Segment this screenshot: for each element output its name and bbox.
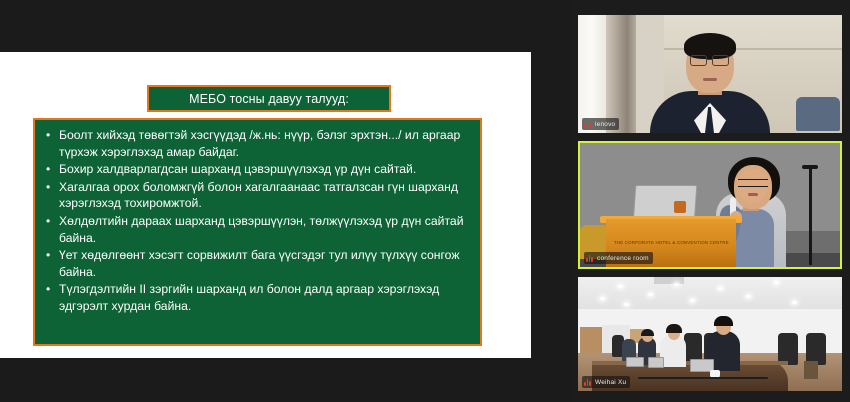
participant-video-weihai-xu [578,277,842,391]
participant-video-conference-room: THE CORPORATE HOTEL & CONVENTION CENTRE [580,143,840,267]
slide-bullet-item: Хагалгаа орох боломжгүй болон хагалгаана… [43,179,470,212]
participant-name-label: lenovo [595,121,615,128]
microphone-icon [584,120,592,128]
participant-video-lenovo [578,15,842,133]
microphone-icon [584,378,592,386]
microphone-icon [586,254,594,262]
slide-title-box: МЕБО тосны давуу талууд: [147,85,391,112]
slide-bullet-item: Боолт хийхэд төвөгтэй хэсгүүдэд /ж.нь: н… [43,127,470,160]
participant-name-label: Weihai Xu [595,379,626,386]
slide-bullet-item: Түлэгдэлтийн II зэргийн шарханд ил болон… [43,281,470,314]
podium-sign-text: THE CORPORATE HOTEL & CONVENTION CENTRE [614,240,724,245]
slide-title-text: МЕБО тосны давуу талууд: [189,92,349,106]
participant-name-badge: conference room [584,252,653,264]
slide-bullet-list: Боолт хийхэд төвөгтэй хэсгүүдэд /ж.нь: н… [43,127,470,315]
participant-tile-weihai-xu[interactable]: Weihai Xu [578,277,842,391]
slide-bullet-item: Үет хөдөлгөөнт хэсэгт сорвижилт бага үүс… [43,247,470,280]
participant-tile-lenovo[interactable]: lenovo [578,15,842,133]
slide-body-box: Боолт хийхэд төвөгтэй хэсгүүдэд /ж.нь: н… [33,118,482,346]
slide-bullet-item: Хөлдөлтийн дараах шарханд цэвэршүүлэн, т… [43,213,470,246]
zoom-meeting-window: МЕБО тосны давуу талууд: Боолт хийхэд тө… [0,0,850,402]
participant-filmstrip[interactable]: lenovo [570,0,850,402]
participant-name-badge: Weihai Xu [582,376,630,388]
shared-screen-stage[interactable]: МЕБО тосны давуу талууд: Боолт хийхэд тө… [0,0,570,402]
slide-bullet-item: Бохир халдварлагдсан шарханд цэвэршүүлэх… [43,161,470,178]
presentation-slide: МЕБО тосны давуу талууд: Боолт хийхэд тө… [0,52,531,358]
participant-tile-conference-room[interactable]: THE CORPORATE HOTEL & CONVENTION CENTRE … [578,141,842,269]
participant-name-badge: lenovo [582,118,619,130]
participant-name-label: conference room [597,255,649,262]
